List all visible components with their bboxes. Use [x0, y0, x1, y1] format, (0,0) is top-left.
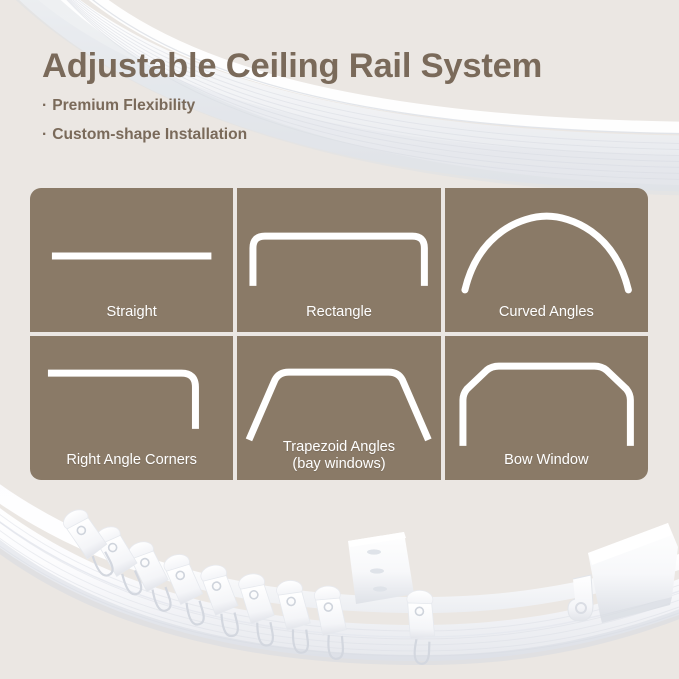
shape-card-label: Straight [107, 304, 157, 332]
shape-card-label: Right Angle Corners [66, 452, 197, 480]
feature-bullet-label: Custom-shape Installation [52, 126, 247, 143]
rail-end-cap [588, 523, 678, 623]
page-title: Adjustable Ceiling Rail System [42, 48, 642, 84]
bottom-rail-photo [0, 455, 679, 679]
feature-bullet-list: ·Premium Flexibility ·Custom-shape Insta… [42, 97, 642, 144]
shape-card-rectangle: Rectangle [237, 188, 440, 332]
end-hook [568, 575, 593, 621]
bullet-dot-icon: · [42, 97, 47, 115]
shape-card-label: Trapezoid Angles (bay windows) [283, 439, 395, 480]
shape-card-label: Bow Window [504, 452, 588, 480]
shape-card-label: Rectangle [306, 304, 372, 332]
shape-options-grid: Straight Rectangle Curved Angles [30, 188, 648, 480]
shape-card-label-line2: (bay windows) [283, 456, 395, 473]
shape-card-right-angle-corners: Right Angle Corners [30, 336, 233, 480]
ceiling-mount-bracket [348, 532, 414, 604]
shape-card-trapezoid-angles: Trapezoid Angles (bay windows) [237, 336, 440, 480]
shape-card-bow-window: Bow Window [445, 336, 648, 480]
feature-bullet-label: Premium Flexibility [52, 97, 195, 114]
shape-card-label-line1: Trapezoid Angles [283, 439, 395, 455]
feature-bullet-item: ·Premium Flexibility [42, 97, 642, 115]
bullet-dot-icon: · [42, 126, 47, 144]
header-block: Adjustable Ceiling Rail System ·Premium … [42, 48, 642, 155]
infographic-canvas: Adjustable Ceiling Rail System ·Premium … [0, 0, 679, 679]
shape-card-curved-angles: Curved Angles [445, 188, 648, 332]
glider-row [60, 504, 436, 664]
feature-bullet-item: ·Custom-shape Installation [42, 126, 642, 144]
shape-card-label: Curved Angles [499, 304, 594, 332]
shape-card-straight: Straight [30, 188, 233, 332]
